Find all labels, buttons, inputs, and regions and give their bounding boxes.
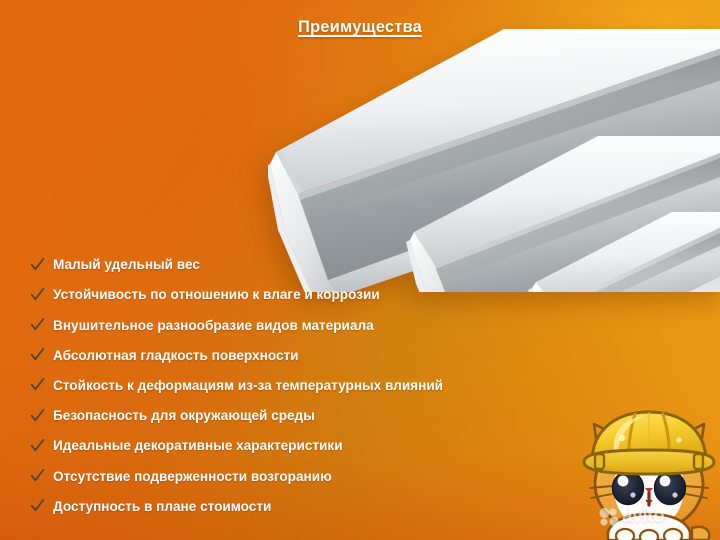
page-title-wrapper: Преимущества — [0, 18, 720, 37]
list-item-label: Абсолютная гладкость поверхности — [53, 349, 299, 363]
check-icon — [30, 498, 45, 513]
list-item: Малый удельный вес — [30, 250, 590, 280]
check-icon — [30, 257, 45, 272]
list-item-label: Малый удельный вес — [53, 258, 200, 272]
list-item: Безопасность для окружающей среды — [30, 401, 590, 431]
check-icon — [30, 287, 45, 302]
list-item-label: Доступность в плане стоимости — [53, 500, 271, 514]
check-icon — [30, 468, 45, 483]
list-item: Внушительное разнообразие видов материал… — [30, 310, 590, 340]
check-icon — [30, 317, 45, 332]
check-icon — [30, 347, 45, 362]
list-item: Отсутствие подверженности возгоранию — [30, 461, 590, 491]
list-item-label: Идеальные декоративные характеристики — [53, 439, 343, 453]
advantages-poster: Преимущества — [0, 0, 720, 540]
advantages-list: Малый удельный вес Устойчивость по отнош… — [30, 250, 590, 522]
cat-body — [608, 514, 709, 540]
list-item-label: Стойкость к деформациям из-за температур… — [53, 379, 443, 393]
list-item: Доступность в плане стоимости — [30, 492, 590, 522]
list-item: Устойчивость по отношению к влаге и корр… — [30, 280, 590, 310]
list-item-label: Внушительное разнообразие видов материал… — [53, 319, 374, 333]
list-item: Стойкость к деформациям из-за температур… — [30, 371, 590, 401]
list-item-label: Устойчивость по отношению к влаге и корр… — [53, 288, 380, 302]
list-item-label: Безопасность для окружающей среды — [53, 409, 315, 423]
page-title: Преимущества — [298, 18, 422, 37]
check-icon — [30, 408, 45, 423]
hard-hat — [584, 412, 714, 474]
cat-in-hard-hat-mascot — [578, 404, 720, 540]
list-item: Идеальные декоративные характеристики — [30, 431, 590, 461]
check-icon — [30, 377, 45, 392]
list-item-label: Отсутствие подверженности возгоранию — [53, 470, 332, 484]
check-icon — [30, 438, 45, 453]
list-item: Абсолютная гладкость поверхности — [30, 341, 590, 371]
